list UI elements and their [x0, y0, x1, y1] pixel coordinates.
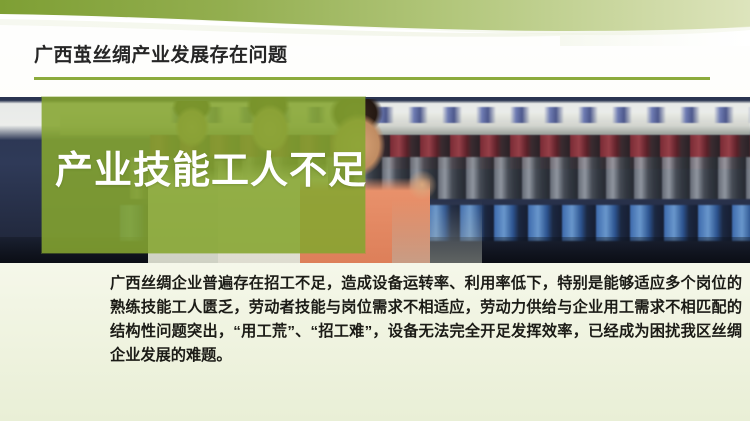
body-paragraph: 广西丝绸企业普遍存在招工不足，造成设备运转率、利用率低下，特别是能够适应多个岗位… [110, 272, 742, 368]
page-title: 广西茧丝绸产业发展存在问题 [34, 40, 288, 67]
title-underline-rule [34, 77, 710, 80]
slide: 广西茧丝绸产业发展存在问题 产业技能工人不足 广西丝绸企业普遍存在招工不足，造成… [0, 0, 750, 421]
headline-text: 产业技能工人不足 [55, 152, 367, 190]
